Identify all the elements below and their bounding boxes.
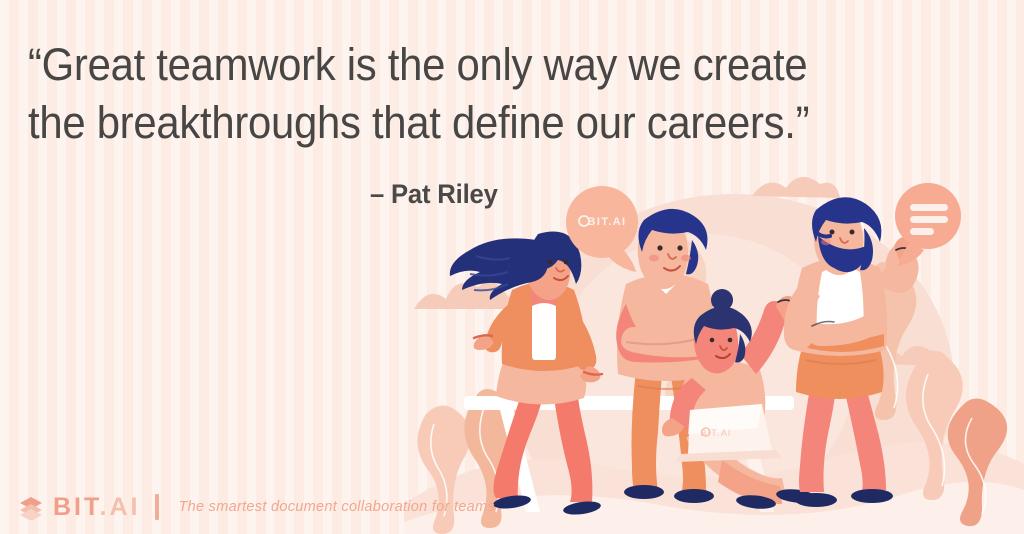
shoe-left (795, 493, 837, 507)
quote-attribution: – Pat Riley (28, 179, 864, 210)
stacked-layers-icon (18, 494, 44, 520)
quote-card: BIT.AI (0, 0, 1024, 534)
chat-line-1 (910, 204, 948, 211)
shoe-right (851, 489, 893, 503)
quote-text: “Great teamwork is the only way we creat… (28, 36, 846, 151)
teamwork-illustration: BIT.AI (404, 174, 1024, 534)
bubble-label: BIT.AI (588, 216, 627, 228)
quote-block: “Great teamwork is the only way we creat… (28, 36, 908, 210)
bun (711, 289, 733, 311)
brand-name-primary: BIT (53, 493, 100, 521)
brand-divider (155, 494, 159, 520)
shoe-left (624, 485, 664, 499)
brand-footer: BIT.AI The smartest document collaborati… (18, 494, 495, 520)
brand-tagline: The smartest document collaboration for … (178, 499, 495, 515)
shoe-right (674, 489, 714, 503)
chat-line-3 (910, 228, 934, 235)
brand-name-secondary: AI (109, 493, 140, 521)
chat-line-2 (910, 216, 948, 223)
brand-name-separator: . (100, 493, 110, 521)
brand-name: BIT.AI (53, 495, 140, 520)
